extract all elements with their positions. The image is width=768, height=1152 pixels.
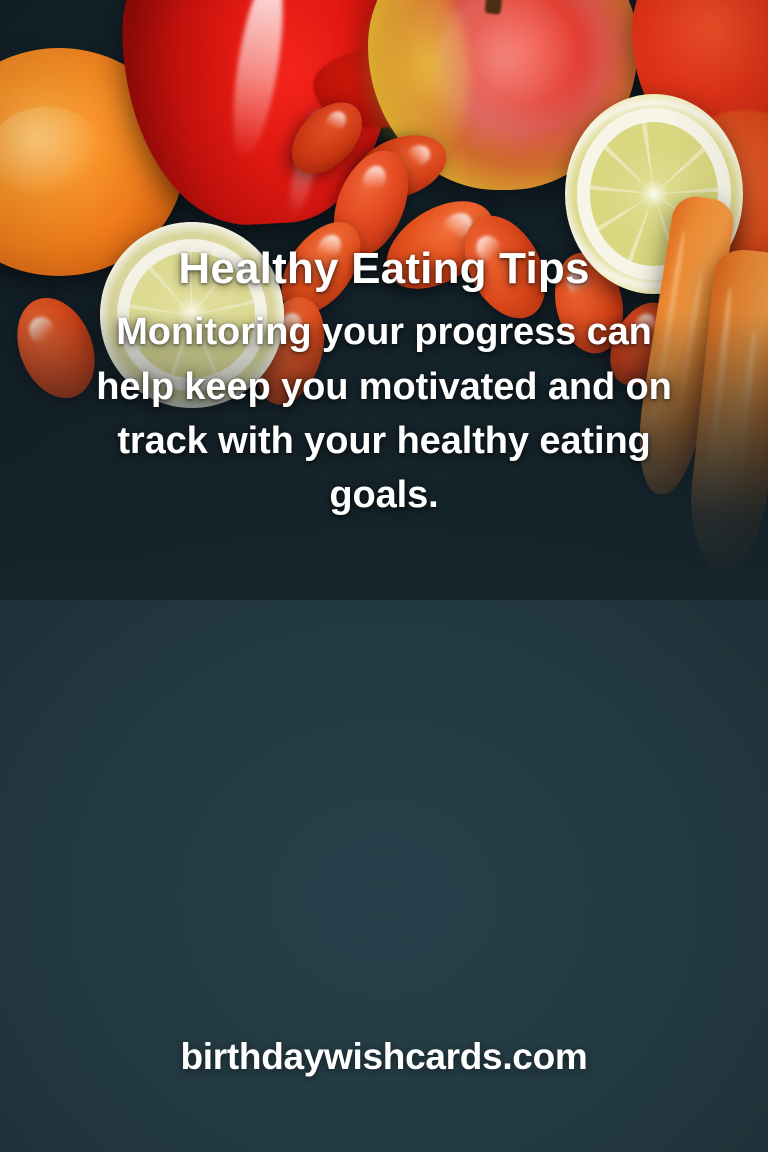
site-footer: birthdaywishcards.com xyxy=(0,1036,768,1078)
healthy-eating-tips-card: Healthy Eating Tips Monitoring your prog… xyxy=(0,0,768,1152)
body-text: Monitoring your progress can help keep y… xyxy=(79,305,689,522)
page-title: Healthy Eating Tips xyxy=(48,246,720,292)
text-block: Healthy Eating Tips Monitoring your prog… xyxy=(0,246,768,523)
